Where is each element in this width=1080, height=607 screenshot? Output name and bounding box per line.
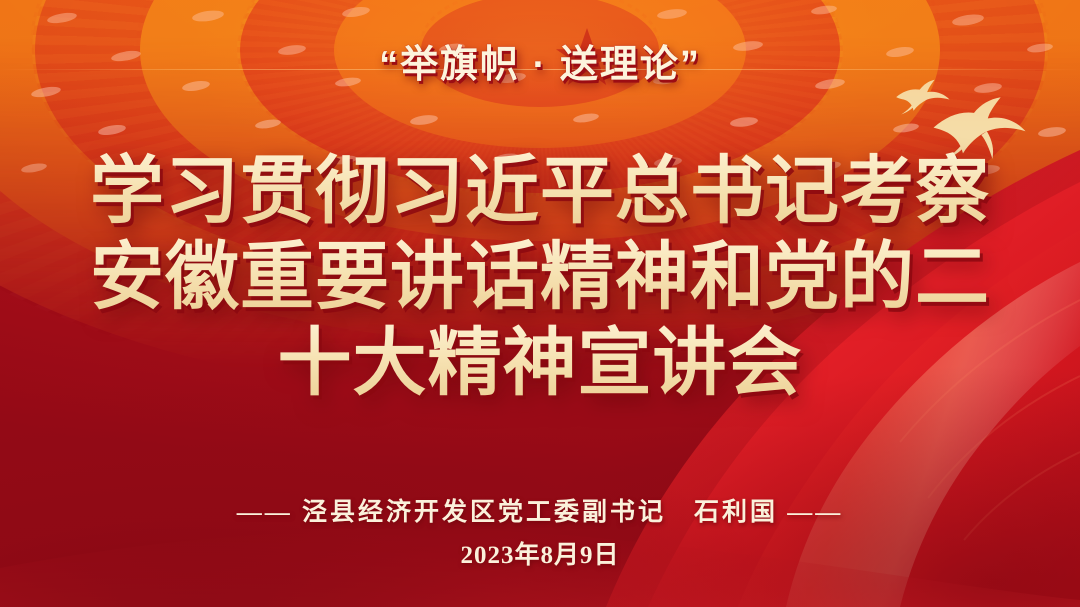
title-line-3: 十大精神宣讲会 (0, 320, 1080, 406)
presenter-line: —— 泾县经济开发区党工委副书记 石利国 —— (0, 492, 1080, 528)
page-title: 学习贯彻习近平总书记考察 安徽重要讲话精神和党的二 十大精神宣讲会 (0, 148, 1080, 406)
poster-canvas: “举旗帜 · 送理论” 学习贯彻习近平总书记考察 安徽重要讲话精神和党的二 十大… (0, 0, 1080, 607)
header-slogan: “举旗帜 · 送理论” (0, 33, 1080, 88)
title-line-1: 学习贯彻习近平总书记考察 (0, 148, 1080, 234)
title-line-2: 安徽重要讲话精神和党的二 (0, 234, 1080, 320)
event-date: 2023年8月9日 (0, 535, 1080, 571)
